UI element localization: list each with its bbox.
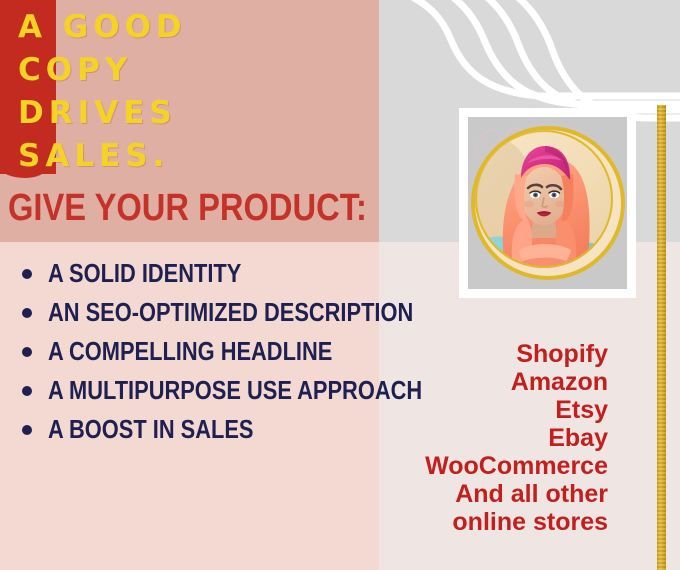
list-item: A COMPELLING HEADLINE bbox=[14, 338, 384, 365]
gold-vertical-bar bbox=[657, 105, 666, 570]
seller-portrait bbox=[475, 130, 613, 268]
subheadline: GIVE YOUR PRODUCT: bbox=[8, 188, 367, 228]
platforms-list: Shopify Amazon Etsy Ebay WooCommerce And… bbox=[348, 340, 608, 536]
headline-line-3: DRIVES bbox=[18, 92, 358, 135]
list-item: A SOLID IDENTITY bbox=[14, 260, 384, 287]
platform-item: Amazon bbox=[348, 368, 608, 396]
list-item: A MULTIPURPOSE USE APPROACH bbox=[14, 377, 384, 404]
benefit-label: A SOLID IDENTITY bbox=[48, 260, 241, 287]
avatar bbox=[471, 126, 625, 280]
headline-line-4: SALES. bbox=[18, 135, 358, 178]
platform-item: online stores bbox=[348, 508, 608, 536]
portrait-inner bbox=[468, 117, 627, 289]
headline-line-1: A GOOD bbox=[18, 6, 358, 49]
poster-canvas: A GOOD COPY DRIVES SALES. GIVE YOUR PROD… bbox=[0, 0, 680, 570]
benefit-label: A BOOST IN SALES bbox=[48, 416, 253, 443]
platform-item: Ebay bbox=[348, 424, 608, 452]
portrait-card bbox=[459, 108, 636, 298]
platform-item: Shopify bbox=[348, 340, 608, 368]
platform-item: WooCommerce bbox=[348, 452, 608, 480]
platform-item: Etsy bbox=[348, 396, 608, 424]
benefits-list: A SOLID IDENTITY AN SEO-OPTIMIZED DESCRI… bbox=[14, 260, 384, 455]
list-item: A BOOST IN SALES bbox=[14, 416, 384, 443]
list-item: AN SEO-OPTIMIZED DESCRIPTION bbox=[14, 299, 384, 326]
headline: A GOOD COPY DRIVES SALES. bbox=[18, 6, 358, 178]
benefit-label: AN SEO-OPTIMIZED DESCRIPTION bbox=[48, 299, 413, 326]
benefit-label: A COMPELLING HEADLINE bbox=[48, 338, 332, 365]
platform-item: And all other bbox=[348, 480, 608, 508]
headline-line-2: COPY bbox=[18, 49, 358, 92]
